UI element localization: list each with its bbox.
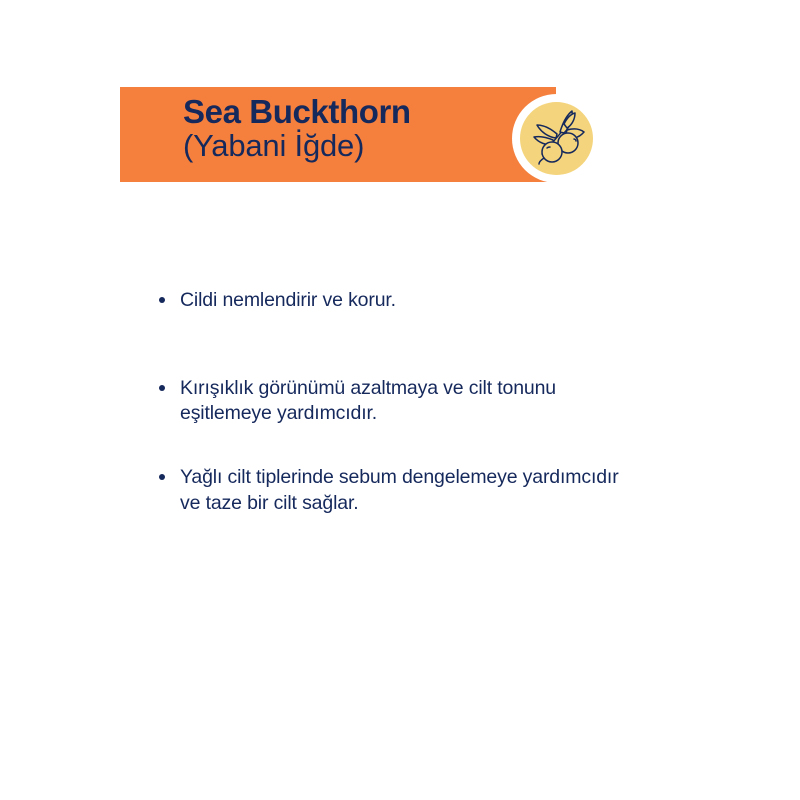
page-subtitle: (Yabani İğde) bbox=[183, 130, 543, 161]
bullet-dot-icon bbox=[159, 474, 165, 480]
list-item: Yağlı cilt tiplerinde sebum dengelemeye … bbox=[158, 465, 718, 516]
list-item-line: ve taze bir cilt sağlar. bbox=[180, 491, 718, 517]
list-item-line: eşitlemeye yardımcıdır. bbox=[180, 401, 718, 427]
list-item: Cildi nemlendirir ve korur. bbox=[158, 288, 718, 314]
list-spacer bbox=[158, 427, 718, 465]
list-item: Kırışıklık görünümü azaltmaya ve cilt to… bbox=[158, 376, 718, 427]
header-title-block: Sea Buckthorn (Yabani İğde) bbox=[183, 95, 543, 161]
list-spacer bbox=[158, 314, 718, 376]
infographic-card: Sea Buckthorn (Yabani İğde) bbox=[0, 0, 800, 800]
list-item-text: Kırışıklık görünümü azaltmaya ve cilt to… bbox=[180, 376, 718, 427]
list-item-text: Yağlı cilt tiplerinde sebum dengelemeye … bbox=[180, 465, 718, 516]
bullet-dot-icon bbox=[159, 297, 165, 303]
list-item-line: Kırışıklık görünümü azaltmaya ve cilt to… bbox=[180, 376, 718, 402]
benefits-list: Cildi nemlendirir ve korur. Kırışıklık g… bbox=[158, 288, 718, 517]
list-item-line: Yağlı cilt tiplerinde sebum dengelemeye … bbox=[180, 465, 718, 491]
badge bbox=[512, 94, 601, 183]
sea-buckthorn-berry-sprig-icon bbox=[520, 102, 593, 175]
list-item-text: Cildi nemlendirir ve korur. bbox=[180, 288, 718, 314]
bullet-dot-icon bbox=[159, 385, 165, 391]
page-title: Sea Buckthorn bbox=[183, 95, 543, 128]
list-item-line: Cildi nemlendirir ve korur. bbox=[180, 288, 718, 314]
badge-yellow-disc bbox=[520, 102, 593, 175]
